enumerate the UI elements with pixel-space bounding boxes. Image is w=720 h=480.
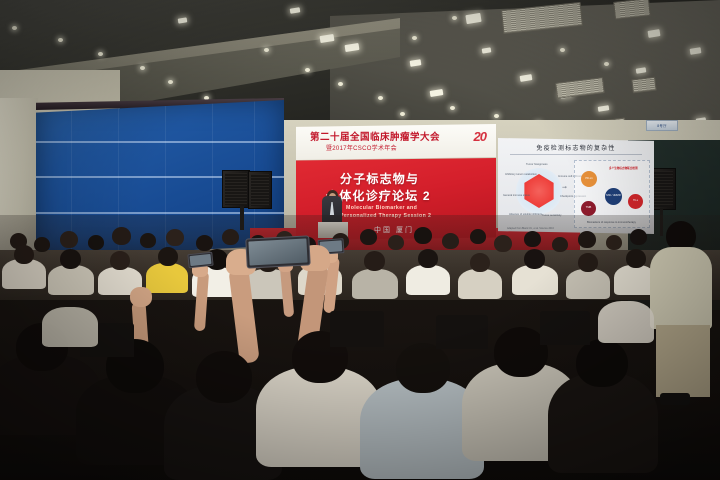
audience-head — [630, 229, 647, 245]
audience-head — [158, 247, 178, 266]
flow-arrow-icon: ➞ — [562, 184, 567, 191]
ceiling-downlight — [204, 96, 209, 100]
ceiling-downlight — [400, 112, 405, 116]
audience-head — [112, 227, 131, 245]
banner-subtitle-text: 暨2017年CSCO学术年会 — [326, 143, 397, 152]
radar-label-left: General immune status — [503, 194, 530, 197]
ceiling-downlight — [98, 52, 103, 56]
speaker-grill — [653, 171, 673, 207]
audience-head — [578, 231, 596, 248]
audience-head — [166, 229, 184, 246]
ceiling-downlight — [604, 62, 609, 66]
conference-hall-photo: 8号厅 第二十届全国临床肿瘤学大会 暨2017年CSCO学术年会 20 分子标志… — [0, 0, 720, 480]
audience-shoulders — [352, 269, 398, 299]
audience-head — [418, 249, 438, 268]
audience-head — [470, 229, 486, 244]
audience-crowd — [0, 215, 720, 480]
audience-head — [222, 229, 239, 245]
smartphone — [187, 252, 213, 269]
front-row-head — [576, 339, 628, 387]
left-pa-speaker-b — [248, 171, 272, 209]
ceiling-downlight — [305, 68, 310, 72]
front-row-head — [196, 351, 252, 403]
hand — [130, 287, 152, 307]
radar-label-upper-left: Inhibitory tumor metabolism — [505, 173, 537, 176]
ceiling-downlight — [58, 38, 63, 42]
audience-head — [626, 249, 646, 268]
standing-attendee-torso — [650, 247, 712, 329]
banner-title-text: 第二十届全国临床肿瘤学大会 — [310, 129, 440, 143]
audience-head — [414, 227, 432, 244]
audience-shoulders — [406, 265, 450, 295]
ceiling-downlight — [264, 48, 269, 52]
phone-screen — [248, 238, 307, 265]
ceiling-hvac-vent — [631, 77, 657, 94]
audience-head — [360, 229, 377, 245]
ceiling-downlight — [338, 82, 343, 86]
audience-head — [524, 231, 541, 247]
node-annotation: 多个生物标志物联合检测 — [609, 166, 638, 170]
room-number-sign: 8号厅 — [646, 120, 678, 131]
ceiling-downlight — [560, 48, 565, 52]
audience-head — [34, 237, 50, 252]
standing-attendee-legs — [656, 325, 710, 397]
audience-head — [578, 253, 598, 272]
front-row-shoulders — [548, 373, 658, 473]
anniversary-logo: 20 — [474, 129, 486, 144]
smartphone-foreground — [245, 235, 310, 268]
speaker-grill — [251, 174, 269, 206]
audience-shoulders — [566, 269, 610, 299]
curtain-seam — [36, 141, 284, 143]
speaker-grill — [225, 173, 247, 205]
audience-head — [60, 231, 78, 248]
curtain-seam — [36, 212, 284, 214]
node-tils: TILs — [628, 194, 643, 209]
ceiling-downlight — [450, 106, 455, 110]
audience-head — [140, 233, 156, 248]
session-title-line1: 分子标志物与 — [340, 170, 419, 187]
ceiling-downlight — [412, 36, 417, 40]
audience-shoulders — [48, 265, 94, 295]
audience-head — [388, 235, 404, 250]
ceiling-downlight — [452, 16, 457, 20]
audience-head — [606, 235, 622, 250]
slide-title-divider — [510, 154, 641, 155]
audience-head — [524, 249, 545, 269]
conference-title-banner: 第二十届全国临床肿瘤学大会 暨2017年CSCO学术年会 20 — [296, 124, 496, 160]
audience-shoulders — [512, 265, 558, 295]
ceiling-downlight — [140, 66, 145, 70]
audience-head — [494, 235, 512, 252]
ceiling-downlight — [12, 26, 17, 30]
audience-head — [552, 237, 568, 252]
audience-head — [60, 249, 81, 269]
chair-back — [436, 315, 488, 349]
audience-shoulders — [42, 307, 98, 347]
phone-screen — [190, 254, 212, 266]
chair-back — [330, 311, 384, 347]
audience-head — [470, 253, 490, 272]
left-pa-speaker — [222, 170, 250, 208]
node-tmb: TMB — [581, 201, 596, 216]
audience-head — [110, 251, 130, 270]
radar-label-top: Tumor foreignness — [526, 163, 548, 166]
radar-chart: Tumor foreignness Immune cell infiltrati… — [508, 164, 570, 222]
slide-title: 免疫检测标志物的复杂性 — [498, 143, 654, 152]
front-row-head — [396, 343, 450, 393]
node-msi: MSI / dMMR — [605, 188, 622, 205]
chair-back — [540, 311, 590, 345]
audience-head — [364, 251, 385, 271]
ceiling-downlight — [494, 114, 499, 118]
audience-head — [14, 245, 34, 264]
audience-head — [88, 235, 104, 250]
audience-head — [442, 233, 459, 249]
ceiling-downlight — [378, 96, 383, 100]
node-pdl1: PD-L1 — [581, 171, 597, 187]
audience-shoulders — [146, 263, 188, 293]
audience-shoulders — [458, 269, 502, 299]
session-subtitle-en-line1: Molecular Biomarker and — [346, 205, 417, 211]
standing-attendee-shoe — [660, 393, 690, 405]
audience-head — [196, 235, 213, 251]
audience-shoulders — [598, 301, 654, 343]
ceiling-downlight — [168, 80, 173, 84]
